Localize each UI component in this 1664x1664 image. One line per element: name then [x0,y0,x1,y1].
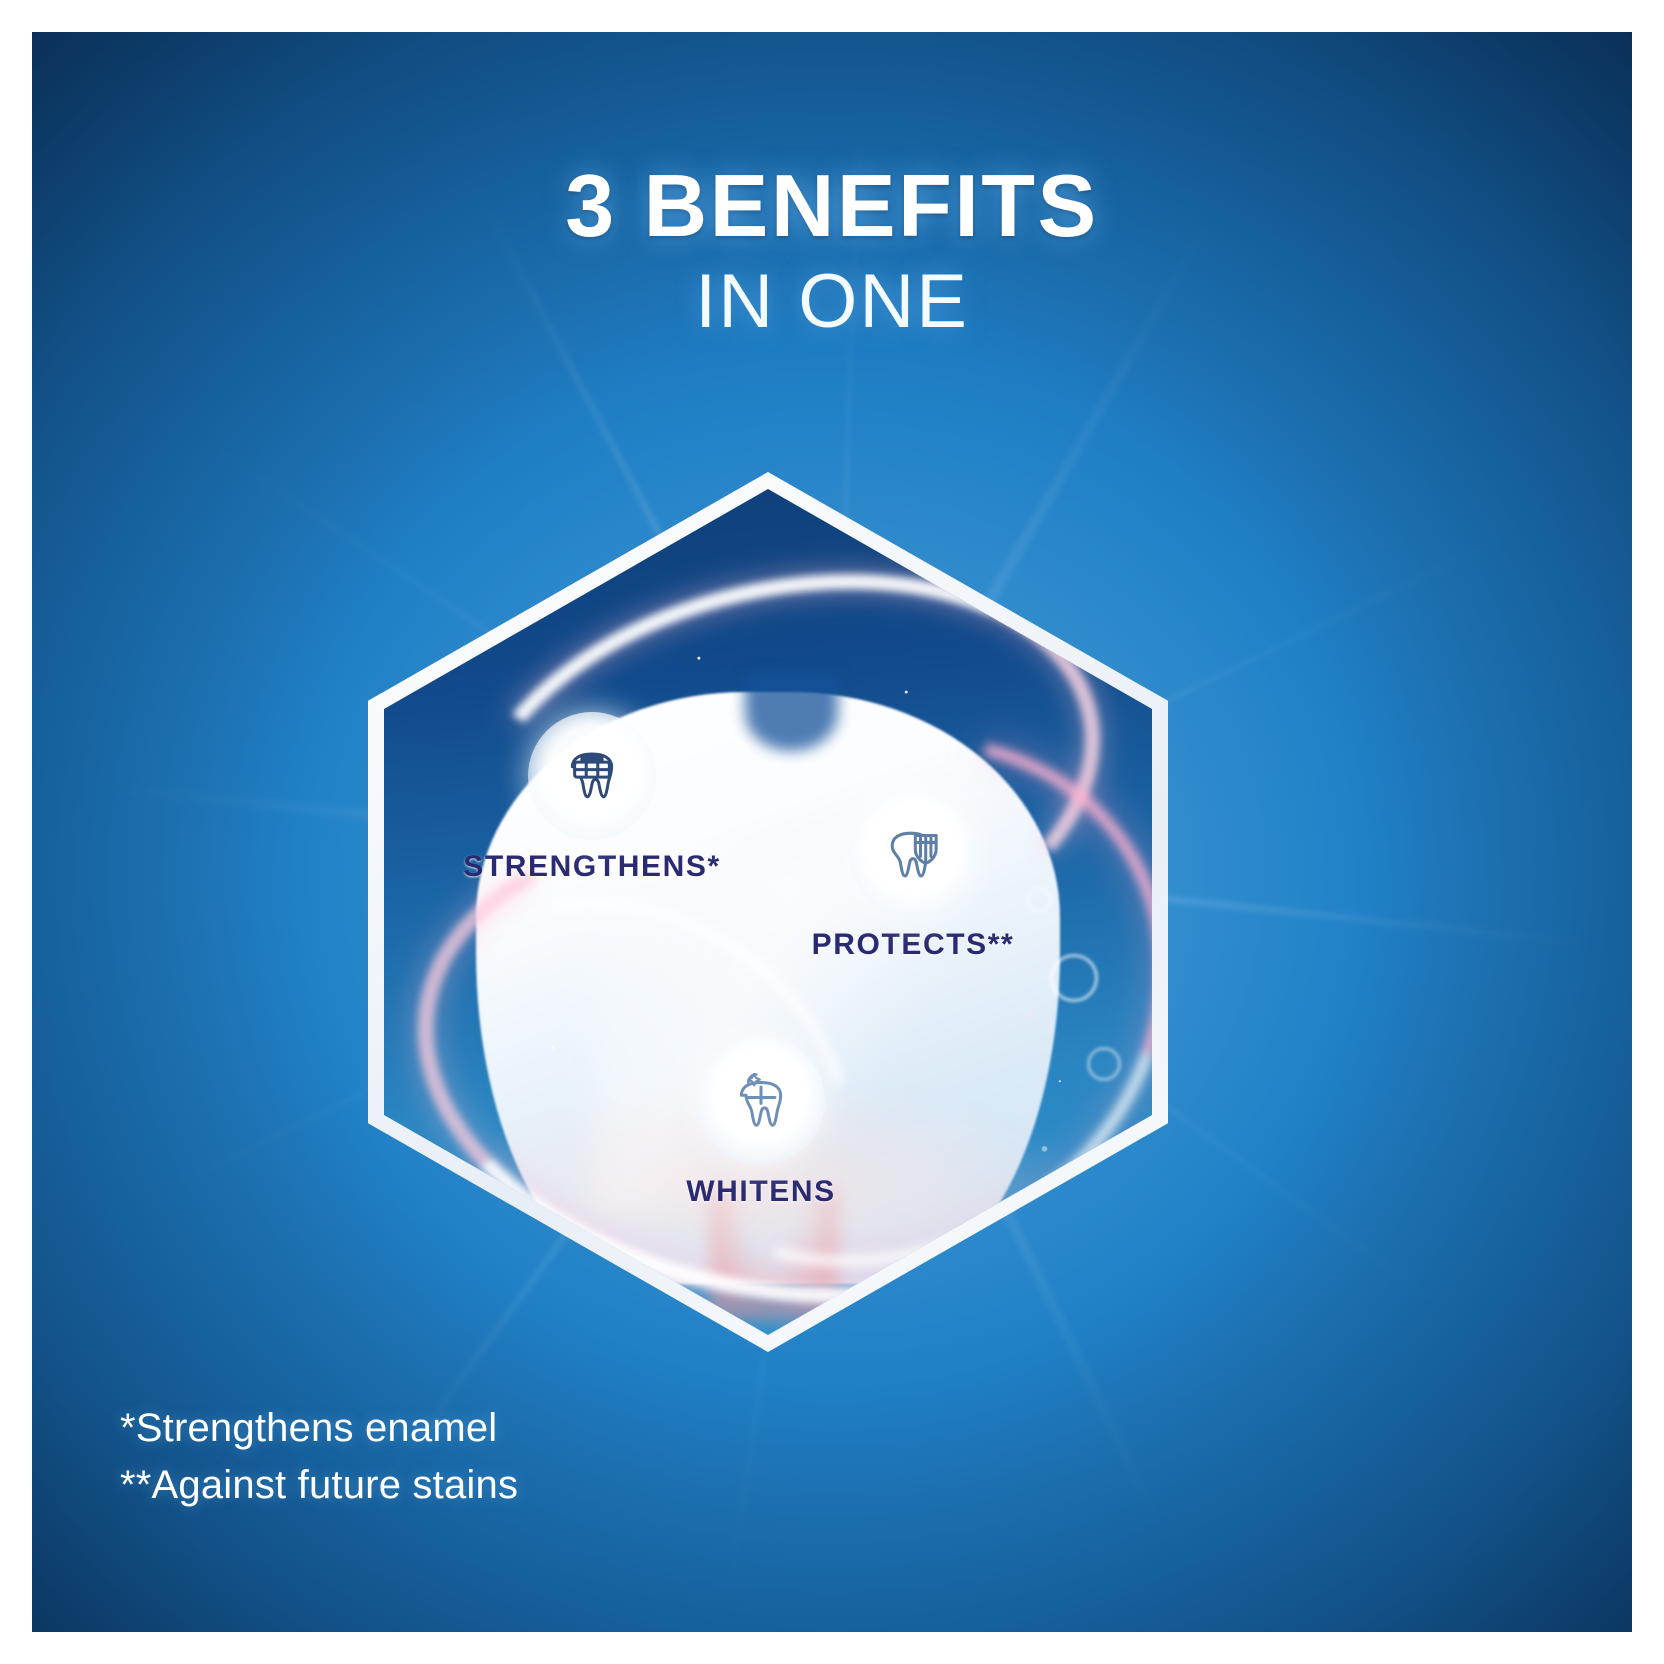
hexagon-illustration: STRENGTHENS* PROTECTS** [368,472,1168,1352]
benefit-badge [849,790,977,918]
benefit-label: PROTECTS** [763,928,1063,962]
headline-primary: 3 BENEFITS [32,162,1632,250]
headline-block: 3 BENEFITS IN ONE [32,162,1632,340]
benefit-badge [697,1037,825,1165]
benefit-badge [528,712,656,840]
footnote-protects: **Against future stains [120,1457,518,1514]
benefit-whitens: WHITENS [611,1037,911,1209]
footnotes-block: *Strengthens enamel **Against future sta… [120,1400,518,1514]
tooth-enamel-icon [555,739,629,813]
product-benefit-poster: 3 BENEFITS IN ONE [32,32,1632,1632]
benefit-label: STRENGTHENS* [442,850,742,884]
benefit-strengthens: STRENGTHENS* [442,712,742,884]
headline-secondary: IN ONE [32,264,1632,340]
footnote-strengthens: *Strengthens enamel [120,1400,518,1457]
benefit-label: WHITENS [611,1175,911,1209]
tooth-sparkle-icon [724,1064,798,1138]
bubble [1087,1047,1121,1081]
benefit-protects: PROTECTS** [763,790,1063,962]
tooth-shield-icon [876,817,950,891]
